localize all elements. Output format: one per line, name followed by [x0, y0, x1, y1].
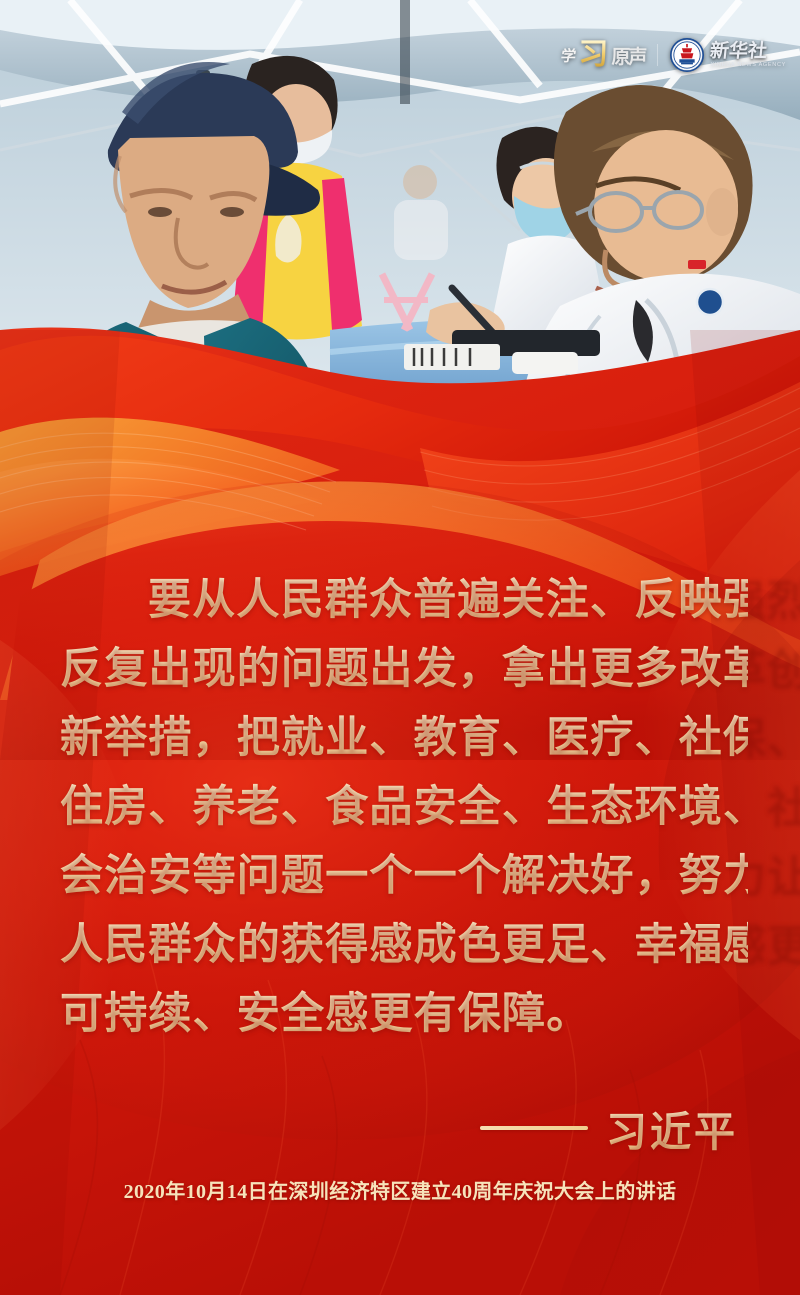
quote-line-7: 可持续、安全感更有保障。 [60, 980, 748, 1049]
quote-line-5: 会治安等问题一个一个解决好，努力让 [60, 842, 748, 911]
quote-line-3: 新举措，把就业、教育、医疗、社保、 [60, 704, 748, 773]
xinhua-news-agency-logo: 新华社 XINHUA NEWS AGENCY [670, 38, 786, 72]
xinhua-wordmark: 新华社 XINHUA NEWS AGENCY [710, 42, 786, 69]
attribution-dash [480, 1126, 588, 1130]
xinhua-chinese-name: 新华社 [709, 42, 787, 61]
svg-text:Travel: Travel [138, 393, 168, 405]
xuexi-yuansheng-logo: 学 习 原声 [561, 40, 645, 70]
logo-divider [657, 44, 658, 66]
quote-line-4: 住房、养老、食品安全、生态环境、社 [60, 773, 748, 842]
attribution-speaker: 习近平 [606, 1098, 738, 1158]
xuexi-logo-prefix: 学 [560, 45, 577, 66]
xinhua-english-name: XINHUA NEWS AGENCY [710, 63, 786, 69]
quote-line-2: 反复出现的问题出发，拿出更多改革创 [60, 635, 748, 704]
logo-bar: 学 习 原声 新华社 XINHUA NEWS AGENCY [561, 38, 786, 72]
xuexi-logo-mark: 习 [578, 40, 608, 70]
source-line: 2020年10月14日在深圳经济特区建立40周年庆祝大会上的讲话 [0, 1175, 800, 1204]
attribution: 习近平 [480, 1098, 738, 1158]
quote-line-6: 人民群众的获得感成色更足、幸福感更 [60, 911, 748, 980]
quote-line-1: 要从人民群众普遍关注、反映强烈、 [60, 566, 748, 635]
quote-text-block: 要从人民群众普遍关注、反映强烈、 反复出现的问题出发，拿出更多改革创 新举措，把… [60, 566, 748, 1049]
quote-poster: Travel [0, 0, 800, 1295]
xuexi-logo-suffix: 原声 [611, 42, 645, 69]
xinhua-emblem-icon [670, 38, 704, 72]
